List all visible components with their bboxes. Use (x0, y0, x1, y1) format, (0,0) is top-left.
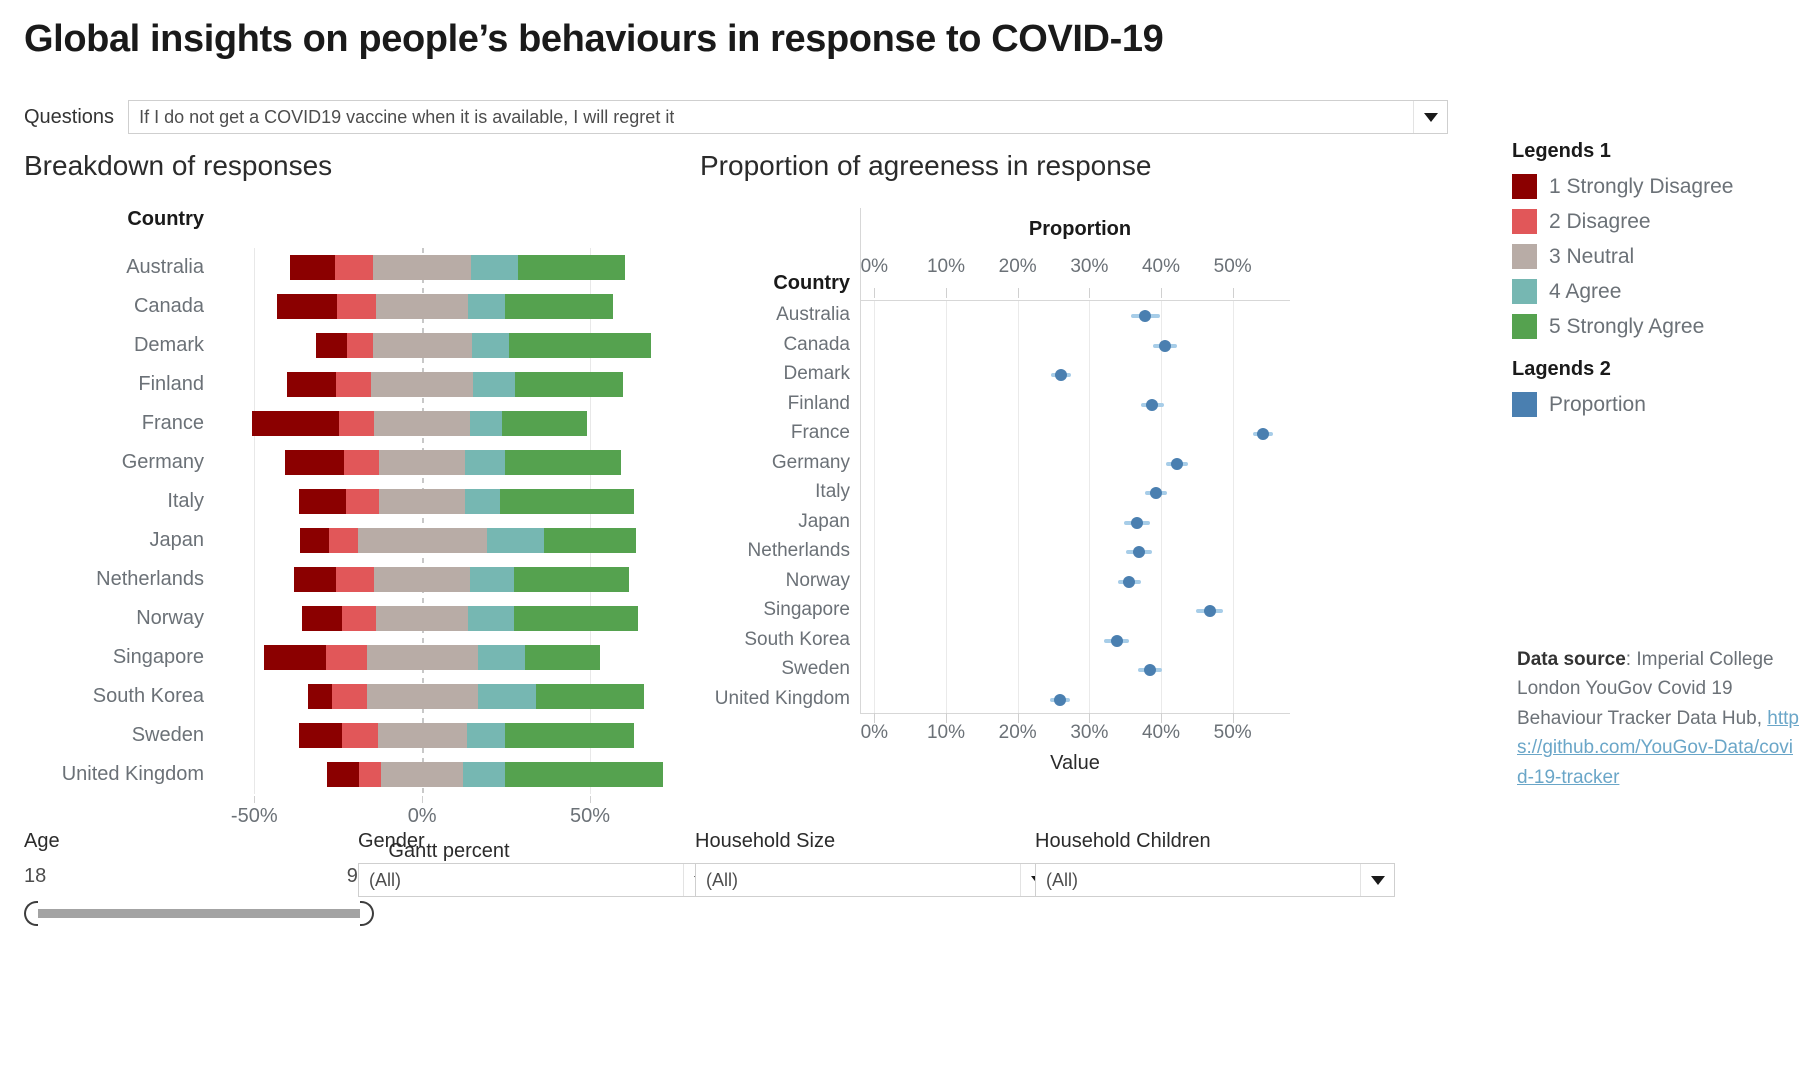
age-slider-handle-min[interactable] (24, 901, 38, 926)
right-chart-dot-row[interactable] (860, 419, 1290, 449)
right-chart-dot-row[interactable] (860, 508, 1290, 538)
left-chart-bar-segment[interactable] (502, 411, 588, 436)
right-chart-tick-mark (874, 288, 875, 298)
left-chart-bar-segment[interactable] (294, 567, 336, 592)
right-chart-row-label: Netherlands (700, 536, 860, 566)
left-chart-tick-label: 0% (408, 805, 437, 828)
question-filter-row: Questions If I do not get a COVID19 vacc… (24, 100, 1448, 134)
left-chart-bar-segment[interactable] (465, 450, 505, 475)
chevron-down-icon[interactable] (1413, 101, 1447, 133)
left-chart-row-label: Japan (24, 521, 214, 560)
right-chart-tick-mark (1089, 288, 1090, 298)
questions-label: Questions (24, 106, 114, 129)
left-chart-bar-segment[interactable] (347, 333, 372, 358)
chevron-down-icon[interactable] (1360, 864, 1394, 896)
right-chart-data-point[interactable] (1146, 399, 1158, 411)
right-chart-row-label: Italy (700, 477, 860, 507)
left-chart-row-label: Canada (24, 287, 214, 326)
right-chart-data-point[interactable] (1123, 576, 1135, 588)
right-chart-dot-row[interactable] (860, 449, 1290, 479)
left-chart-bar-row[interactable] (214, 716, 684, 755)
right-chart-dot-row[interactable] (860, 655, 1290, 685)
right-chart-tick-mark (946, 288, 947, 298)
left-chart-bar-row[interactable] (214, 287, 684, 326)
left-chart-bar-segment[interactable] (337, 294, 376, 319)
right-chart-data-point[interactable] (1204, 605, 1216, 617)
left-chart-bar-segment[interactable] (468, 606, 513, 631)
left-chart-bar-segment[interactable] (544, 528, 636, 553)
left-chart-bar-segment[interactable] (290, 255, 335, 280)
left-chart-bar-segment[interactable] (379, 489, 465, 514)
legends-2-list: Proportion (1512, 387, 1802, 422)
right-chart-data-point[interactable] (1139, 310, 1151, 322)
left-chart-bar-segment[interactable] (525, 645, 601, 670)
left-chart-bar-segment[interactable] (285, 450, 344, 475)
right-chart-row-labels: AustraliaCanadaDemarkFinlandFranceGerman… (700, 300, 860, 713)
left-chart-plot (214, 248, 684, 794)
right-chart-dot-row[interactable] (860, 537, 1290, 567)
left-chart-bar-segment[interactable] (379, 450, 465, 475)
legend-1-item[interactable]: 4 Agree (1512, 274, 1802, 309)
right-chart-data-point[interactable] (1171, 458, 1183, 470)
left-chart-bar-segment[interactable] (344, 450, 379, 475)
right-chart-bottom-ticklabels: 0%10%20%30%40%50% (860, 722, 1290, 746)
color-swatch-icon (1512, 279, 1537, 304)
left-chart-row-label: Australia (24, 248, 214, 287)
left-chart-row-label: Finland (24, 365, 214, 404)
left-chart-row-label: Netherlands (24, 560, 214, 599)
legend-1-item[interactable]: 3 Neutral (1512, 239, 1802, 274)
right-chart-tick-mark (1018, 288, 1019, 298)
question-select-value: If I do not get a COVID19 vaccine when i… (129, 107, 674, 128)
legends-2: Lagends 2 Proportion (1512, 358, 1802, 422)
right-chart-tick-mark (1233, 288, 1234, 298)
age-range-values: 18 99 (24, 865, 369, 888)
age-slider-handle-max[interactable] (360, 901, 374, 926)
right-chart-dot-row[interactable] (860, 626, 1290, 656)
left-chart-bar-segment[interactable] (467, 723, 506, 748)
right-chart-tick-label: 30% (1070, 256, 1108, 278)
left-chart-row-label: South Korea (24, 677, 214, 716)
left-chart-bar-segment[interactable] (300, 528, 329, 553)
right-chart-tick-label: 40% (1142, 722, 1180, 744)
left-chart-bar-segment[interactable] (264, 645, 326, 670)
left-chart-bar-segment[interactable] (358, 528, 487, 553)
right-chart-tick-label: 10% (927, 722, 965, 744)
legend-1-label: 5 Strongly Agree (1549, 315, 1704, 339)
legend-2-label: Proportion (1549, 393, 1646, 417)
right-chart-dot-row[interactable] (860, 301, 1290, 331)
left-chart-bar-segment[interactable] (287, 372, 336, 397)
left-chart-bar-segment[interactable] (342, 606, 376, 631)
left-chart-bar-segment[interactable] (487, 528, 544, 553)
color-swatch-icon (1512, 209, 1537, 234)
left-chart-row-label: United Kingdom (24, 755, 214, 794)
left-chart-bar-row[interactable] (214, 443, 684, 482)
left-chart-row-label: France (24, 404, 214, 443)
right-chart-tick-mark (1161, 288, 1162, 298)
left-chart-bar-segment[interactable] (335, 255, 374, 280)
left-chart-bar-row[interactable] (214, 482, 684, 521)
left-chart-bar-segment[interactable] (371, 372, 473, 397)
left-chart-row-label: Sweden (24, 716, 214, 755)
household-children-select-value: (All) (1036, 870, 1078, 891)
left-chart-bar-segment[interactable] (465, 489, 500, 514)
left-chart-bar-row[interactable] (214, 404, 684, 443)
gender-select[interactable]: (All) (358, 863, 718, 897)
left-chart-row-label: Demark (24, 326, 214, 365)
left-chart-bar-segment[interactable] (332, 684, 367, 709)
right-chart-data-point[interactable] (1150, 487, 1162, 499)
left-chart-bar-segment[interactable] (346, 489, 380, 514)
right-chart-tick-label: 40% (1142, 256, 1180, 278)
right-chart-tick-label: 30% (1070, 722, 1108, 744)
right-chart-tick-label: 20% (999, 256, 1037, 278)
left-chart-country-header: Country (24, 208, 214, 231)
right-chart-dot-row[interactable] (860, 596, 1290, 626)
age-filter-label: Age (24, 830, 384, 853)
right-chart-row-label: Singapore (700, 595, 860, 625)
right-chart-row-label: Norway (700, 566, 860, 596)
right-chart-plot (860, 300, 1290, 713)
right-chart-tick-label: 50% (1214, 722, 1252, 744)
right-chart-data-point[interactable] (1257, 428, 1269, 440)
left-chart-tick-mark (590, 796, 591, 803)
right-chart-row-label: South Korea (700, 625, 860, 655)
left-chart-bar-segment[interactable] (505, 294, 612, 319)
left-chart-bar-segment[interactable] (373, 333, 472, 358)
left-chart-bar-segment[interactable] (299, 489, 346, 514)
left-chart-bar-segment[interactable] (478, 684, 537, 709)
left-chart-row-label: Norway (24, 599, 214, 638)
left-chart-bar-segment[interactable] (468, 294, 505, 319)
legend-1-item[interactable]: 2 Disagree (1512, 204, 1802, 239)
right-chart-data-point[interactable] (1055, 369, 1067, 381)
color-swatch-icon (1512, 174, 1537, 199)
left-chart-bar-row[interactable] (214, 521, 684, 560)
data-source-note: Data source: Imperial College London You… (1517, 645, 1802, 792)
legends-1-title: Legends 1 (1512, 140, 1802, 163)
left-chart-bar-row[interactable] (214, 326, 684, 365)
right-chart-data-point[interactable] (1133, 546, 1145, 558)
left-chart-row-label: Singapore (24, 638, 214, 677)
left-chart-bar-segment[interactable] (471, 255, 518, 280)
left-chart-bar-row[interactable] (214, 599, 684, 638)
left-chart-bar-segment[interactable] (470, 567, 514, 592)
color-swatch-icon (1512, 392, 1537, 417)
left-chart-bar-segment[interactable] (376, 294, 468, 319)
left-chart-bar-segment[interactable] (302, 606, 342, 631)
age-min-value: 18 (24, 865, 46, 888)
right-chart-dot-row[interactable] (860, 685, 1290, 715)
left-chart-row-labels: AustraliaCanadaDemarkFinlandFranceGerman… (24, 248, 214, 794)
right-chart-top-tickmarks (860, 288, 1290, 300)
right-chart-row-label: Australia (700, 300, 860, 330)
right-chart-tick-label: 20% (999, 722, 1037, 744)
left-chart-bar-segment[interactable] (336, 567, 375, 592)
right-chart-row-label: United Kingdom (700, 684, 860, 714)
left-chart-bar-segment[interactable] (252, 411, 339, 436)
left-chart-bar-segment[interactable] (505, 723, 634, 748)
gender-select-value: (All) (359, 870, 401, 891)
left-chart-tick-label: -50% (231, 805, 278, 828)
left-chart-bar-segment[interactable] (509, 333, 652, 358)
left-chart-bar-row[interactable] (214, 248, 684, 287)
legend-1-label: 1 Strongly Disagree (1549, 175, 1733, 199)
legends-1-list: 1 Strongly Disagree2 Disagree3 Neutral4 … (1512, 169, 1802, 344)
left-chart-bar-segment[interactable] (367, 684, 478, 709)
gender-filter-label: Gender (358, 830, 718, 853)
gender-filter: Gender (All) (358, 830, 718, 897)
legend-1-label: 2 Disagree (1549, 210, 1651, 234)
left-chart-bar-segment[interactable] (381, 762, 463, 787)
left-chart-bar-segment[interactable] (374, 567, 470, 592)
left-chart-row-label: Italy (24, 482, 214, 521)
household-size-filter: Household Size (All) (695, 830, 1055, 897)
breakdown-chart: Country AustraliaCanadaDemarkFinlandFran… (24, 200, 684, 820)
left-chart-bar-segment[interactable] (373, 255, 470, 280)
legends-1: Legends 1 1 Strongly Disagree2 Disagree3… (1512, 140, 1802, 344)
left-chart-bar-segment[interactable] (367, 645, 478, 670)
legend-2-item[interactable]: Proportion (1512, 387, 1802, 422)
left-chart-bar-segment[interactable] (376, 606, 468, 631)
left-chart-tick-mark (254, 796, 255, 803)
left-chart-bar-segment[interactable] (505, 450, 621, 475)
right-chart-dot-row[interactable] (860, 567, 1290, 597)
proportion-chart: Proportion Country 0%10%20%30%40%50% Aus… (700, 200, 1300, 820)
right-chart-tick-label: 0% (861, 722, 888, 744)
right-chart-dot-row[interactable] (860, 360, 1290, 390)
right-chart-data-point[interactable] (1131, 517, 1143, 529)
page-title: Global insights on people’s behaviours i… (24, 18, 1163, 61)
household-children-select[interactable]: (All) (1035, 863, 1395, 897)
filter-bar: Age 18 99 Gender (All) Household Size (A… (0, 830, 1809, 1084)
right-chart-row-label: Japan (700, 507, 860, 537)
left-chart-bar-segment[interactable] (336, 372, 371, 397)
age-filter: Age 18 99 (24, 830, 384, 926)
right-chart-tick-label: 50% (1214, 256, 1252, 278)
right-chart-dot-row[interactable] (860, 478, 1290, 508)
right-chart-row-label: France (700, 418, 860, 448)
left-chart-bar-segment[interactable] (472, 333, 509, 358)
left-panel-title: Breakdown of responses (24, 150, 332, 182)
legend-1-item[interactable]: 5 Strongly Agree (1512, 309, 1802, 344)
right-chart-top-title: Proportion (860, 218, 1300, 241)
left-chart-bar-segment[interactable] (505, 762, 663, 787)
left-chart-bar-row[interactable] (214, 638, 684, 677)
left-chart-bar-segment[interactable] (478, 645, 525, 670)
left-chart-bar-segment[interactable] (359, 762, 381, 787)
right-chart-row-label: Finland (700, 389, 860, 419)
right-chart-row-label: Germany (700, 448, 860, 478)
household-size-select-value: (All) (696, 870, 738, 891)
left-chart-bar-segment[interactable] (515, 372, 622, 397)
legends-2-title: Lagends 2 (1512, 358, 1802, 381)
left-chart-bar-segment[interactable] (339, 411, 374, 436)
right-chart-x-title: Value (860, 752, 1290, 775)
left-chart-bar-segment[interactable] (473, 372, 515, 397)
right-chart-tick-label: 10% (927, 256, 965, 278)
left-chart-bar-segment[interactable] (342, 723, 377, 748)
left-chart-bar-segment[interactable] (316, 333, 348, 358)
age-range-slider[interactable] (24, 900, 374, 926)
left-chart-bar-segment[interactable] (518, 255, 625, 280)
right-chart-country-header: Country (700, 272, 860, 295)
left-chart-bar-segment[interactable] (500, 489, 634, 514)
left-chart-bar-segment[interactable] (470, 411, 502, 436)
right-chart-row-label: Canada (700, 330, 860, 360)
left-chart-bar-segment[interactable] (514, 567, 630, 592)
right-chart-dot-row[interactable] (860, 390, 1290, 420)
left-chart-tick-label: 50% (570, 805, 610, 828)
left-chart-bar-segment[interactable] (536, 684, 643, 709)
household-children-filter-label: Household Children (1035, 830, 1395, 853)
left-chart-bar-segment[interactable] (514, 606, 638, 631)
legend-1-label: 3 Neutral (1549, 245, 1634, 269)
left-chart-bar-segment[interactable] (308, 684, 332, 709)
left-chart-bar-segment[interactable] (327, 762, 359, 787)
left-chart-bar-segment[interactable] (378, 723, 467, 748)
right-chart-data-point[interactable] (1144, 664, 1156, 676)
right-chart-data-point[interactable] (1159, 340, 1171, 352)
right-chart-row-label: Sweden (700, 654, 860, 684)
left-chart-bar-row[interactable] (214, 677, 684, 716)
right-chart-data-point[interactable] (1111, 635, 1123, 647)
right-chart-dot-row[interactable] (860, 331, 1290, 361)
left-chart-bar-segment[interactable] (299, 723, 343, 748)
left-chart-bar-row[interactable] (214, 365, 684, 404)
age-slider-track[interactable] (38, 909, 360, 918)
left-chart-row-label: Germany (24, 443, 214, 482)
household-children-filter: Household Children (All) (1035, 830, 1395, 897)
left-chart-bar-row[interactable] (214, 560, 684, 599)
right-chart-top-ticklabels: 0%10%20%30%40%50% (860, 256, 1290, 280)
color-swatch-icon (1512, 244, 1537, 269)
legend-1-label: 4 Agree (1549, 280, 1621, 304)
left-chart-bar-segment[interactable] (326, 645, 366, 670)
household-size-select[interactable]: (All) (695, 863, 1055, 897)
right-panel-title: Proportion of agreeness in response (700, 150, 1151, 182)
household-size-filter-label: Household Size (695, 830, 1055, 853)
left-chart-bar-segment[interactable] (277, 294, 337, 319)
legend-1-item[interactable]: 1 Strongly Disagree (1512, 169, 1802, 204)
color-swatch-icon (1512, 314, 1537, 339)
data-source-prefix: Data source (1517, 649, 1626, 670)
left-chart-bar-segment[interactable] (374, 411, 470, 436)
right-chart-row-label: Demark (700, 359, 860, 389)
left-chart-bar-segment[interactable] (329, 528, 358, 553)
dashboard-root: Global insights on people’s behaviours i… (0, 0, 1809, 1084)
left-chart-bar-row[interactable] (214, 755, 684, 794)
left-chart-tick-mark (422, 796, 423, 803)
question-select[interactable]: If I do not get a COVID19 vaccine when i… (128, 100, 1448, 134)
right-chart-tick-label: 0% (861, 256, 888, 278)
right-chart-data-point[interactable] (1054, 694, 1066, 706)
left-chart-bar-segment[interactable] (463, 762, 505, 787)
